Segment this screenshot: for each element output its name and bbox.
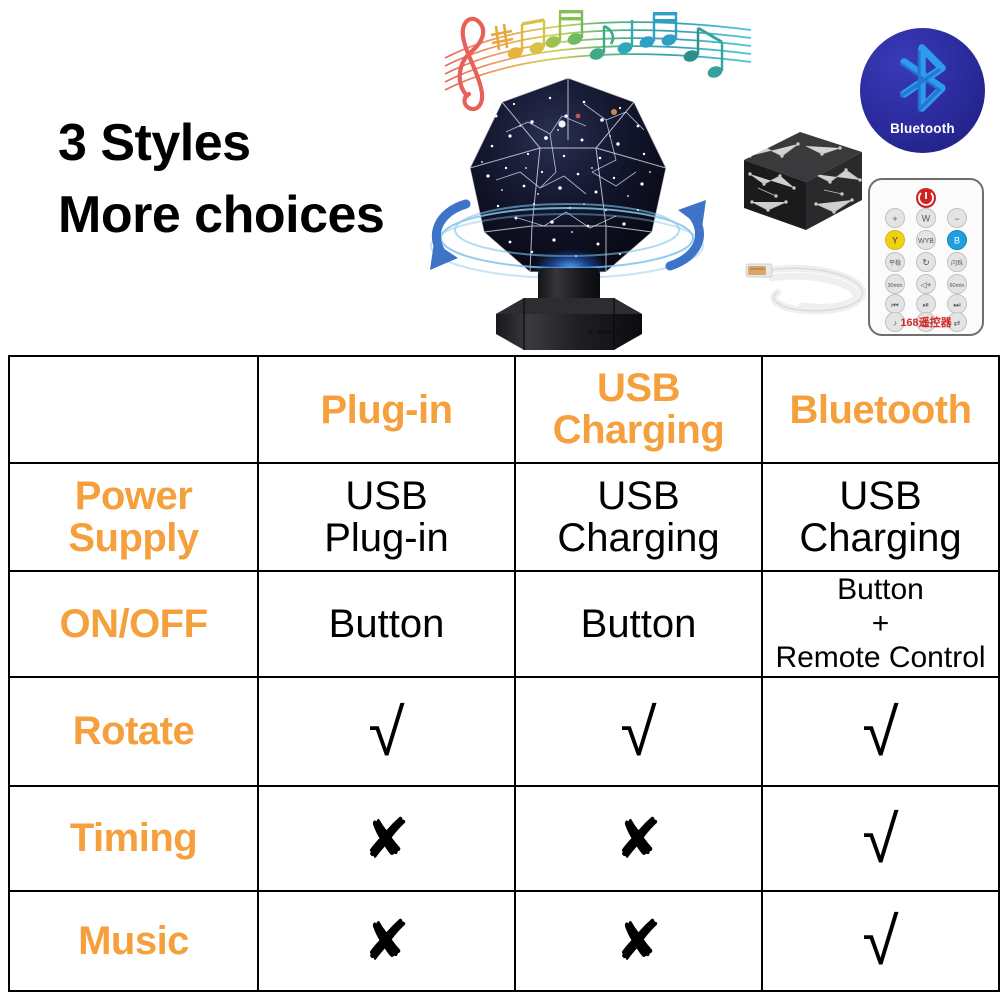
- cell-rotate-bluetooth: √: [762, 677, 999, 786]
- cell-onoff-usb-charging: Button: [515, 571, 762, 677]
- svg-text:⏭: ⏭: [953, 301, 960, 310]
- remote-model-label: 168遥控器: [866, 314, 986, 330]
- bluetooth-badge: Bluetooth: [860, 28, 985, 153]
- lamp-base: [494, 296, 644, 354]
- table-row-on-off: ON/OFF Button Button Button + Remote Con…: [9, 571, 999, 677]
- check-icon: √: [763, 699, 998, 765]
- table-row-power-supply: Power Supply USB Plug-in USB Charging US…: [9, 463, 999, 571]
- svg-text:WYB: WYB: [918, 238, 934, 245]
- bluetooth-icon: [860, 34, 985, 122]
- constellation-gift-box: [736, 126, 868, 234]
- page-title: 3 Styles More choices: [58, 108, 438, 252]
- svg-text:◁+: ◁+: [921, 281, 932, 290]
- headline-line-2: More choices: [58, 180, 438, 252]
- cell-timing-plug-in: ✘: [258, 786, 515, 891]
- check-icon: √: [763, 908, 998, 974]
- svg-text:60min: 60min: [950, 283, 965, 289]
- cell-timing-bluetooth: √: [762, 786, 999, 891]
- svg-text:B: B: [954, 236, 960, 246]
- headline-line-1: 3 Styles: [58, 108, 438, 180]
- cross-icon: ✘: [259, 811, 514, 867]
- svg-text:−: −: [954, 214, 959, 224]
- svg-text:30min: 30min: [888, 283, 903, 289]
- table-row-rotate: Rotate √ √ √: [9, 677, 999, 786]
- header-plug-in: Plug-in: [258, 356, 515, 463]
- cell-music-bluetooth: √: [762, 891, 999, 991]
- svg-text:⏯: ⏯: [923, 301, 929, 310]
- svg-text:↻: ↻: [922, 258, 930, 268]
- cell-onoff-plug-in: Button: [258, 571, 515, 677]
- row-label-rotate: Rotate: [9, 677, 258, 786]
- check-icon: √: [259, 699, 514, 765]
- cell-power-plug-in: USB Plug-in: [258, 463, 515, 571]
- cell-music-usb-charging: ✘: [515, 891, 762, 991]
- comparison-table: Plug-in USB Charging Bluetooth Power Sup…: [8, 355, 1000, 992]
- cross-icon: ✘: [259, 913, 514, 969]
- header-usb-charging: USB Charging: [515, 356, 762, 463]
- cell-power-bluetooth: USB Charging: [762, 463, 999, 571]
- hero-product-banner: 3 Styles More choices: [0, 0, 1000, 356]
- header-bluetooth: Bluetooth: [762, 356, 999, 463]
- bluetooth-badge-label: Bluetooth: [860, 121, 985, 136]
- svg-text:W: W: [922, 214, 931, 224]
- row-label-timing: Timing: [9, 786, 258, 891]
- cell-power-usb-charging: USB Charging: [515, 463, 762, 571]
- table-header-row: Plug-in USB Charging Bluetooth: [9, 356, 999, 463]
- check-icon: √: [763, 806, 998, 872]
- star-projector-lamp: [438, 72, 696, 356]
- row-label-on-off: ON/OFF: [9, 571, 258, 677]
- svg-text:⏮: ⏮: [891, 301, 898, 310]
- cell-music-plug-in: ✘: [258, 891, 515, 991]
- cross-icon: ✘: [516, 811, 761, 867]
- cell-rotate-plug-in: √: [258, 677, 515, 786]
- table-row-timing: Timing ✘ ✘ √: [9, 786, 999, 891]
- table-row-music: Music ✘ ✘ √: [9, 891, 999, 991]
- cell-timing-usb-charging: ✘: [515, 786, 762, 891]
- header-corner-cell: [9, 356, 258, 463]
- cell-onoff-bluetooth: Button + Remote Control: [762, 571, 999, 677]
- usb-cable: [738, 236, 873, 322]
- svg-text:+: +: [892, 214, 897, 224]
- cell-rotate-usb-charging: √: [515, 677, 762, 786]
- row-label-power-supply: Power Supply: [9, 463, 258, 571]
- svg-text:Y: Y: [892, 236, 898, 246]
- svg-text:闪烁: 闪烁: [951, 259, 963, 267]
- svg-text:平稳: 平稳: [889, 259, 901, 267]
- cross-icon: ✘: [516, 913, 761, 969]
- check-icon: √: [516, 699, 761, 765]
- row-label-music: Music: [9, 891, 258, 991]
